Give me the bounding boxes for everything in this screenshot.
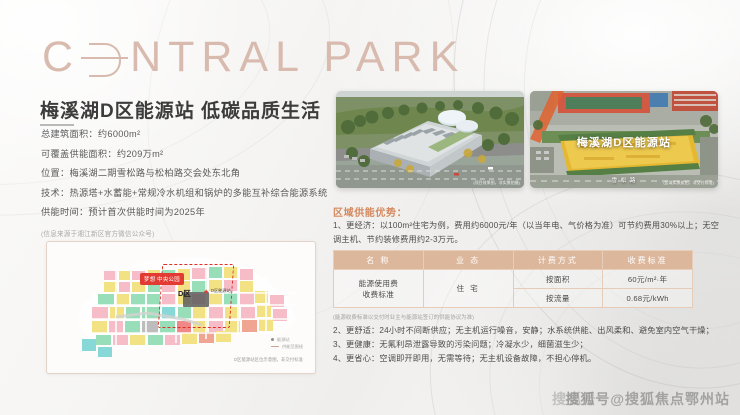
map-zone-sublabel: D区能源站 [211, 288, 231, 294]
spec-item: 可覆盖供能面积：约209万m² [41, 150, 333, 159]
brand-wordmark: C NTRAL PARK [42, 36, 465, 79]
photo-a-caption: (项目效果图，非实景拍摄) [473, 180, 520, 186]
spec-list: 总建筑面积：约6000m² 可覆盖供能面积：约209万m² 位置：梅溪湖二期雪松… [41, 130, 333, 238]
spec-item: 总建筑面积：约6000m² [41, 130, 333, 139]
photo-b-caption: (区域实景航拍，非交付标准) [663, 180, 714, 186]
fee-table: 名 称 业 态 计费方式 收费标准 能源使用费 收费标准 住 宅 按面积 60元… [333, 250, 693, 308]
spec-item: 位置：梅溪湖二期雪松路与松柏路交会处东北角 [41, 169, 333, 178]
fee-th-method: 计费方式 [513, 251, 603, 270]
advantage-point-1: 1、更经济：以100m²住宅为例，费用约6000元/年（以当年电、气价格为准）可… [333, 219, 725, 247]
park-badge: 梦想 中央公园 [140, 273, 184, 285]
advantage-point: 3、更健康：无氟利昂泄露导致的污染问题；冷凝水少，细菌滋生少； [333, 338, 729, 352]
fee-rate: 0.68元/kWh [603, 289, 693, 308]
fee-rate: 60元/m²·年 [603, 270, 693, 289]
map-caption: D区能源站区位示意图，非交付标准 [234, 357, 303, 363]
spec-source-note: (信息来源于湘江新区官方微信公众号) [41, 228, 333, 238]
photo-b-overlay-label: 梅溪湖D区能源站 [530, 134, 718, 150]
zoning-map-canvas: 梦想 中央公园 D区 ★ D区能源站 能源站 供能范围线 D区能源站区位示意图，… [52, 247, 310, 368]
legend-dash-icon [271, 346, 279, 347]
fee-method: 按面积 [513, 270, 603, 289]
fee-th-rate: 收费标准 [603, 251, 693, 270]
photo-energy-station-aerial: (项目效果图，非实景拍摄) [336, 91, 524, 188]
advantages-title: 区域供能优势： [333, 204, 407, 219]
spec-item: 技术：热源塔+水蓄能+常规冷水机组和锅炉的多能互补综合能源系统 [41, 189, 333, 198]
spec-item: 供能时间：预计首次供能时间为2025年 [41, 208, 333, 217]
brand-post: NTRAL PARK [130, 36, 465, 79]
map-zone-label: D区 [178, 288, 191, 299]
fee-method: 按流量 [513, 289, 603, 308]
fee-row-name-line2: 收费标准 [335, 289, 422, 300]
fee-row-name-line1: 能源使用费 [335, 278, 422, 289]
map-legend: 能源站 供能范围线 [271, 336, 303, 350]
photo-a-art [336, 91, 524, 188]
brand-pre: C [42, 36, 80, 79]
station-star-icon: ★ [203, 288, 209, 296]
fee-th-name: 名 称 [334, 251, 424, 270]
legend-item: 供能范围线 [271, 343, 303, 350]
photo-b-road-label: 雪 松 路 [612, 176, 637, 184]
legend-label: 供能范围线 [282, 344, 303, 349]
title-underline [40, 124, 74, 126]
slide-root: C NTRAL PARK 梅溪湖D区能源站 低碳品质生活 总建筑面积：约6000… [0, 0, 740, 415]
fee-row-biztype: 住 宅 [423, 270, 513, 308]
advantage-points: 2、更舒适：24小时不间断供应；无主机运行噪音，安静；水系统供能、出风柔和、避免… [333, 324, 729, 366]
legend-label: 能源站 [277, 337, 290, 342]
photo-site-aerial: 梅溪湖D区能源站 雪 松 路 (区域实景航拍，非交付标准) [530, 91, 718, 188]
fee-table-header-row: 名 称 业 态 计费方式 收费标准 [334, 251, 693, 270]
legend-dot-icon [271, 338, 274, 341]
advantage-point: 2、更舒适：24小时不间断供应；无主机运行噪音，安静；水系统供能、出风柔和、避免… [333, 324, 729, 338]
zoning-map-card: 梦想 中央公园 D区 ★ D区能源站 能源站 供能范围线 D区能源站区位示意图，… [46, 241, 316, 374]
legend-item: 能源站 [271, 336, 303, 343]
fee-th-biz: 业 态 [423, 251, 513, 270]
table-row: 能源使用费 收费标准 住 宅 按面积 60元/m²·年 [334, 270, 693, 289]
e-ligature-icon [81, 36, 128, 79]
fee-table-note: (能源收费标准以交付时业主与能源站签订的供能协议为准) [333, 313, 474, 321]
watermark-right: 搜狐号@搜狐焦点鄂州站 [565, 389, 730, 409]
fee-row-name: 能源使用费 收费标准 [334, 270, 424, 308]
page-title: 梅溪湖D区能源站 低碳品质生活 [40, 96, 321, 123]
advantage-point: 4、更省心：空调即开即用，无需等待；无主机设备故障，不担心停机。 [333, 352, 729, 366]
